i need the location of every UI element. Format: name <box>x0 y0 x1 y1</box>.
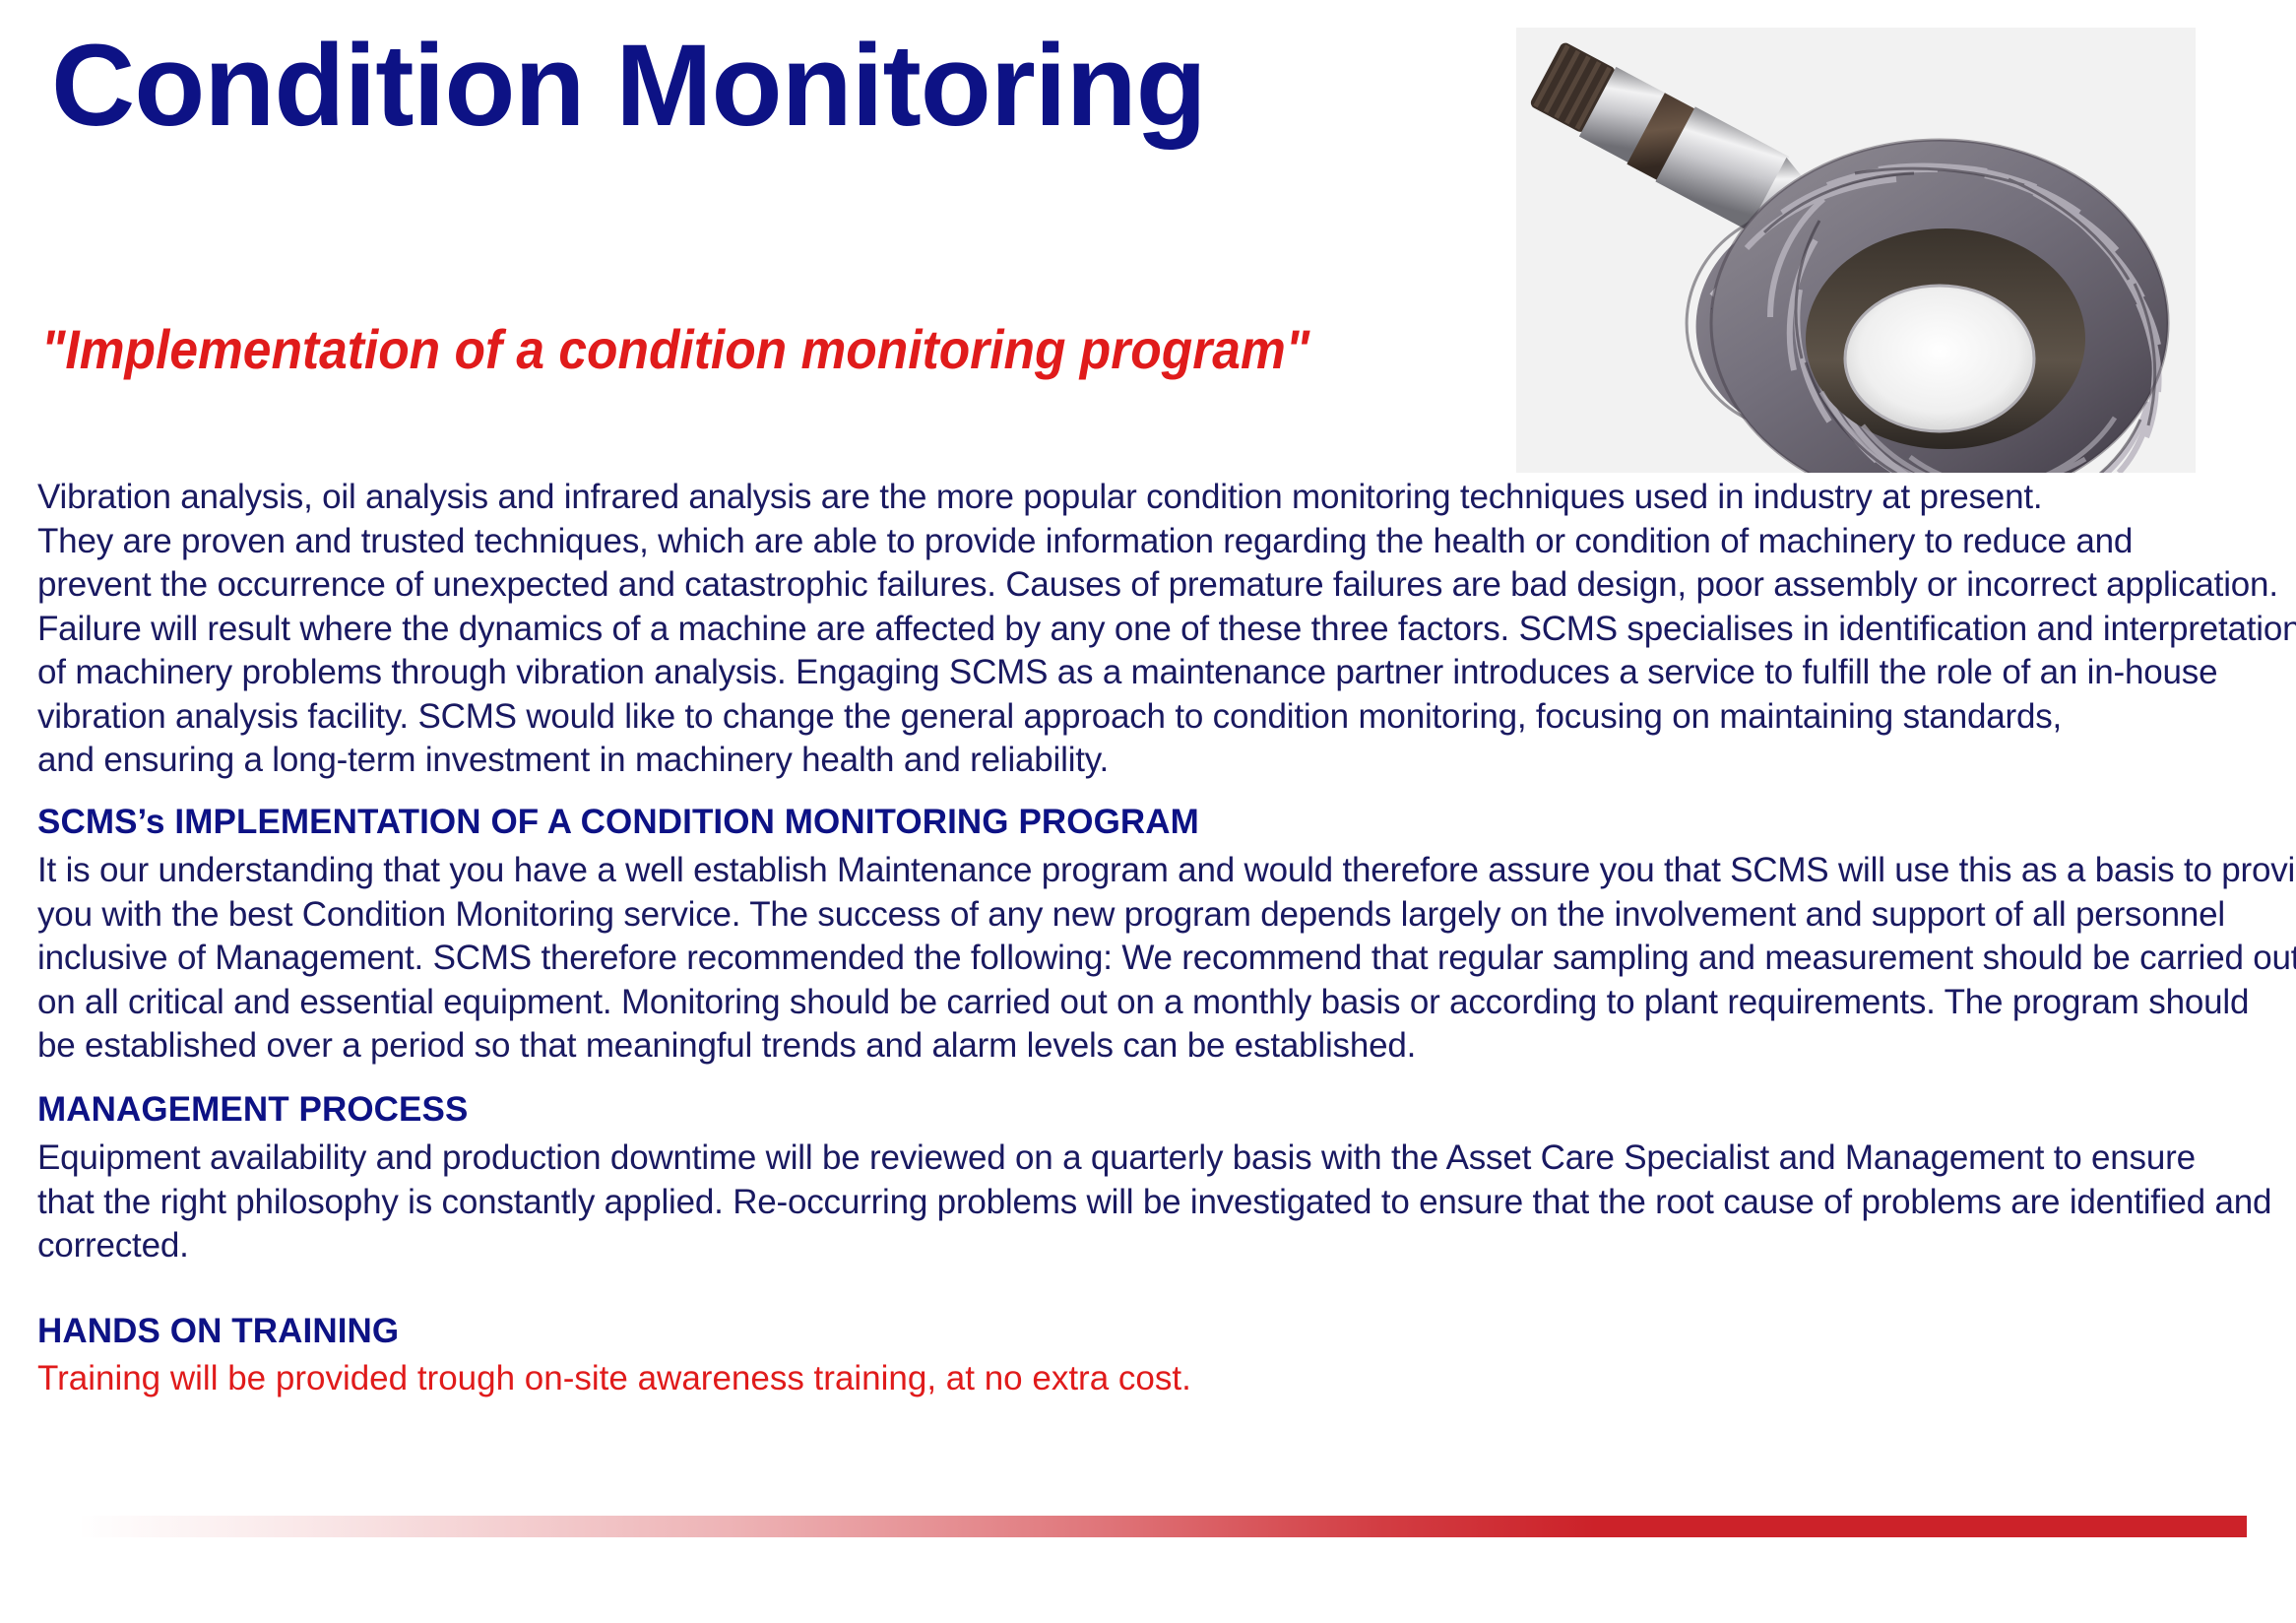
page-title: Condition Monitoring <box>51 26 1206 148</box>
paragraph-line: Vibration analysis, oil analysis and inf… <box>37 476 2296 520</box>
paragraph-line: of machinery problems through vibration … <box>37 651 2296 695</box>
section-heading-implementation: SCMS’s IMPLEMENTATION OF A CONDITION MON… <box>37 801 1199 844</box>
paragraph-line: inclusive of Management. SCMS therefore … <box>37 937 2296 981</box>
section-heading-management-process: MANAGEMENT PROCESS <box>37 1088 468 1132</box>
paragraph-line: on all critical and essential equipment.… <box>37 981 2296 1025</box>
paragraph-line: It is our understanding that you have a … <box>37 849 2296 893</box>
implementation-paragraph: It is our understanding that you have a … <box>37 849 2296 1069</box>
gear-illustration-icon <box>1516 28 2196 473</box>
spiral-bevel-gear-set-image <box>1516 28 2196 473</box>
paragraph-line: be established over a period so that mea… <box>37 1024 2296 1069</box>
page-subtitle: "Implementation of a condition monitorin… <box>41 319 1309 380</box>
footer-gradient-rule <box>77 1516 2247 1537</box>
paragraph-line: and ensuring a long-term investment in m… <box>37 739 2296 783</box>
paragraph-line: Failure will result where the dynamics o… <box>37 608 2296 652</box>
training-note: Training will be provided trough on-site… <box>37 1357 1191 1400</box>
paragraph-line: prevent the occurrence of unexpected and… <box>37 563 2296 608</box>
intro-paragraph: Vibration analysis, oil analysis and inf… <box>37 476 2296 783</box>
paragraph-line: corrected. <box>37 1224 2271 1268</box>
paragraph-line: They are proven and trusted techniques, … <box>37 520 2296 564</box>
paragraph-line: Equipment availability and production do… <box>37 1136 2271 1181</box>
slide-page: Condition Monitoring "Implementation of … <box>0 0 2296 1623</box>
paragraph-line: vibration analysis facility. SCMS would … <box>37 695 2296 740</box>
paragraph-line: that the right philosophy is constantly … <box>37 1181 2271 1225</box>
section-heading-hands-on-training: HANDS ON TRAINING <box>37 1310 399 1353</box>
management-process-paragraph: Equipment availability and production do… <box>37 1136 2271 1268</box>
paragraph-line: you with the best Condition Monitoring s… <box>37 893 2296 938</box>
